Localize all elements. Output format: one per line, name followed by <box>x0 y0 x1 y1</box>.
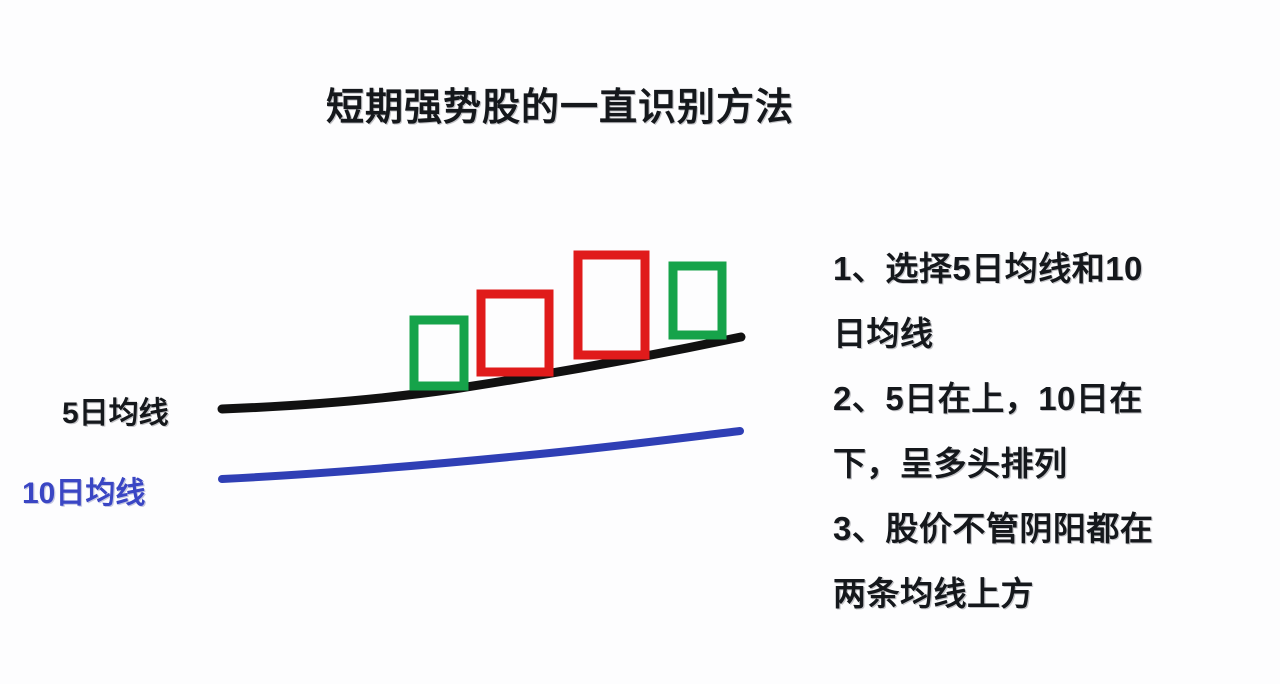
ma10-line <box>222 431 740 479</box>
rule-line-4: 下，呈多头排列 <box>833 431 1253 496</box>
rule-line-3: 2、5日在上，10日在 <box>833 366 1253 431</box>
rule-line-6: 两条均线上方 <box>833 561 1253 626</box>
slide-canvas: 短期强势股的一直识别方法 5日均线 10日均线 1、选择5日均线和10 日均线 … <box>0 0 1280 684</box>
ma5-label: 5日均线 <box>62 388 169 432</box>
rule-line-5: 3、股价不管阴阳都在 <box>833 496 1253 561</box>
rule-line-2: 日均线 <box>833 301 1253 366</box>
moving-average-chart <box>0 0 800 684</box>
ma10-label: 10日均线 <box>22 468 145 512</box>
chart-svg <box>0 0 800 684</box>
rule-line-1: 1、选择5日均线和10 <box>833 236 1253 301</box>
candle-bear-3 <box>578 255 645 355</box>
rules-list: 1、选择5日均线和10 日均线 2、5日在上，10日在 下，呈多头排列 3、股价… <box>833 236 1253 626</box>
candle-bull-1 <box>414 320 464 386</box>
candle-bear-2 <box>481 294 549 372</box>
candle-bull-4 <box>673 266 722 335</box>
